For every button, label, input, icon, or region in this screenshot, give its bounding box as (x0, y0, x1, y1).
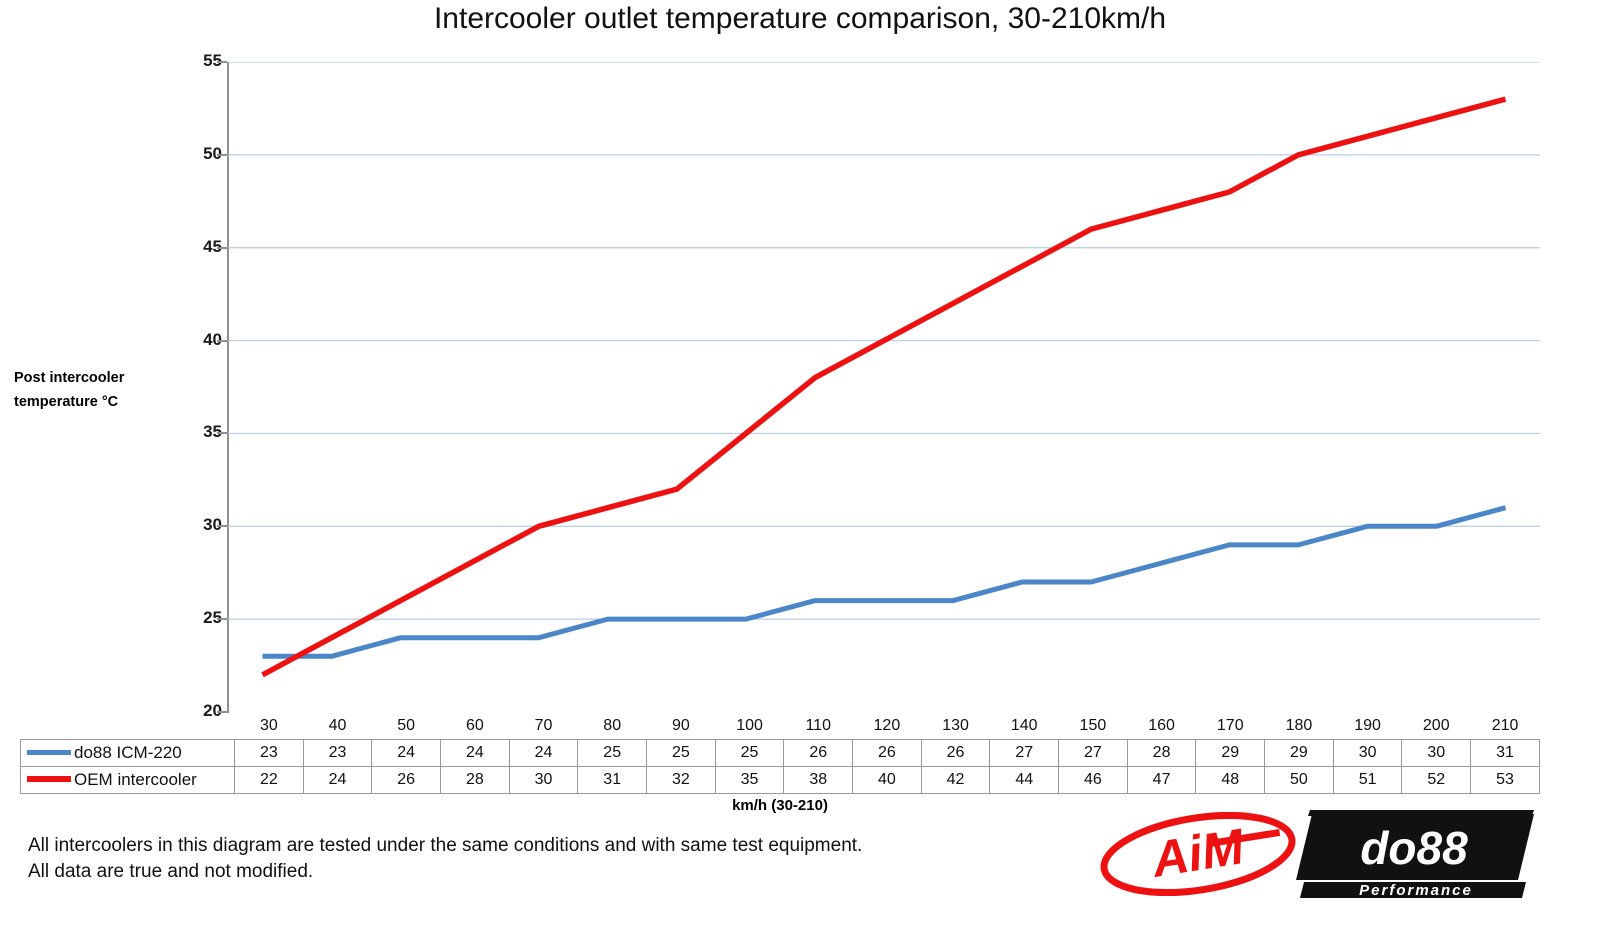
y-axis-title-line-2: temperature °C (14, 390, 174, 414)
do88-logo-main: do88 (1360, 822, 1468, 874)
table-cell: 25 (578, 740, 647, 767)
table-row: OEM intercooler2224262830313235384042444… (21, 767, 1540, 794)
plot-area (228, 62, 1540, 712)
table-cell: 30 (1333, 740, 1402, 767)
table-cell: 40 (853, 767, 922, 794)
table-cell: 29 (1265, 740, 1334, 767)
table-header-cell: 190 (1333, 713, 1402, 740)
table-header-cell: 160 (1127, 713, 1196, 740)
table-cell: 28 (441, 767, 510, 794)
legend-label: OEM intercooler (74, 770, 197, 790)
aim-logo: AiM (1098, 812, 1298, 896)
table-header-cell: 210 (1471, 713, 1540, 740)
table-cell: 26 (853, 740, 922, 767)
table-header-cell: 200 (1402, 713, 1471, 740)
table-cell: 27 (1059, 740, 1128, 767)
table-cell: 24 (303, 767, 372, 794)
table-cell: 23 (235, 740, 304, 767)
table-cell: 46 (1059, 767, 1128, 794)
y-axis-title: Post intercooler temperature °C (14, 366, 174, 414)
series-line-do88 (263, 508, 1506, 657)
table-header-cell: 140 (990, 713, 1059, 740)
table-cell: 31 (578, 767, 647, 794)
table-cell: 35 (715, 767, 784, 794)
table-cell: 23 (303, 740, 372, 767)
y-tick-label: 40 (176, 330, 222, 350)
y-tick-label: 50 (176, 144, 222, 164)
table-cell: 25 (647, 740, 716, 767)
table-header-cell: 50 (372, 713, 441, 740)
table-cell: 48 (1196, 767, 1265, 794)
y-tick-label: 55 (176, 51, 222, 71)
table-header-cell: 40 (303, 713, 372, 740)
data-table: 3040506070809010011012013014015016017018… (20, 713, 1540, 794)
table-cell: 24 (509, 740, 578, 767)
chart-container: Intercooler outlet temperature compariso… (0, 0, 1600, 940)
table-cell: 47 (1127, 767, 1196, 794)
series-line-oem (263, 99, 1506, 675)
table-header-cell: 90 (647, 713, 716, 740)
table-cell: 52 (1402, 767, 1471, 794)
table-cell: 30 (1402, 740, 1471, 767)
table-cell: 24 (372, 740, 441, 767)
y-tick-mark (217, 432, 227, 434)
y-tick-label: 35 (176, 422, 222, 442)
legend-swatch-icon (27, 750, 71, 755)
chart-title: Intercooler outlet temperature compariso… (0, 2, 1600, 36)
table-header-cell: 130 (921, 713, 990, 740)
do88-logo-graphic: do88 Performance (1296, 810, 1534, 898)
table-cell: 28 (1127, 740, 1196, 767)
table-header-cell: 30 (235, 713, 304, 740)
plot-svg (228, 62, 1540, 712)
table-header-cell: 150 (1059, 713, 1128, 740)
y-tick-mark (217, 525, 227, 527)
table-header-cell: 180 (1265, 713, 1334, 740)
table-header-legend-spacer (21, 713, 235, 740)
table-cell: 25 (715, 740, 784, 767)
gridlines (228, 62, 1540, 712)
legend-cell-do88: do88 ICM-220 (21, 740, 235, 767)
table-cell: 27 (990, 740, 1059, 767)
table-cell: 38 (784, 767, 853, 794)
table-cell: 31 (1471, 740, 1540, 767)
table-cell: 26 (921, 740, 990, 767)
table-row: do88 ICM-2202323242424252525262626272728… (21, 740, 1540, 767)
table-header-cell: 110 (784, 713, 853, 740)
y-tick-label: 45 (176, 237, 222, 257)
y-tick-mark (217, 61, 227, 63)
table-cell: 22 (235, 767, 304, 794)
y-tick-mark (217, 154, 227, 156)
table-cell: 44 (990, 767, 1059, 794)
y-tick-label: 30 (176, 515, 222, 535)
table-cell: 51 (1333, 767, 1402, 794)
y-tick-mark (217, 247, 227, 249)
table-cell: 24 (441, 740, 510, 767)
table-cell: 50 (1265, 767, 1334, 794)
legend-label: do88 ICM-220 (74, 743, 182, 763)
y-axis-title-line-1: Post intercooler (14, 366, 174, 390)
table-header-cell: 70 (509, 713, 578, 740)
table-cell: 26 (372, 767, 441, 794)
series-lines (263, 99, 1506, 675)
table-cell: 42 (921, 767, 990, 794)
table-header-cell: 80 (578, 713, 647, 740)
do88-logo-sub: Performance (1359, 882, 1473, 898)
table-cell: 32 (647, 767, 716, 794)
table-header-cell: 60 (441, 713, 510, 740)
y-tick-mark (217, 618, 227, 620)
do88-logo: do88 Performance (1296, 810, 1534, 898)
aim-logo-graphic: AiM (1098, 812, 1298, 896)
table-cell: 53 (1471, 767, 1540, 794)
footer-note: All intercoolers in this diagram are tes… (28, 833, 862, 885)
legend-swatch-icon (27, 776, 71, 782)
table-header-cell: 170 (1196, 713, 1265, 740)
table-cell: 30 (509, 767, 578, 794)
y-tick-mark (217, 340, 227, 342)
table-header-cell: 100 (715, 713, 784, 740)
y-tick-label: 25 (176, 608, 222, 628)
table-cell: 26 (784, 740, 853, 767)
table-header-cell: 120 (853, 713, 922, 740)
legend-cell-oem: OEM intercooler (21, 767, 235, 794)
table-cell: 29 (1196, 740, 1265, 767)
table-header-row: 3040506070809010011012013014015016017018… (21, 713, 1540, 740)
